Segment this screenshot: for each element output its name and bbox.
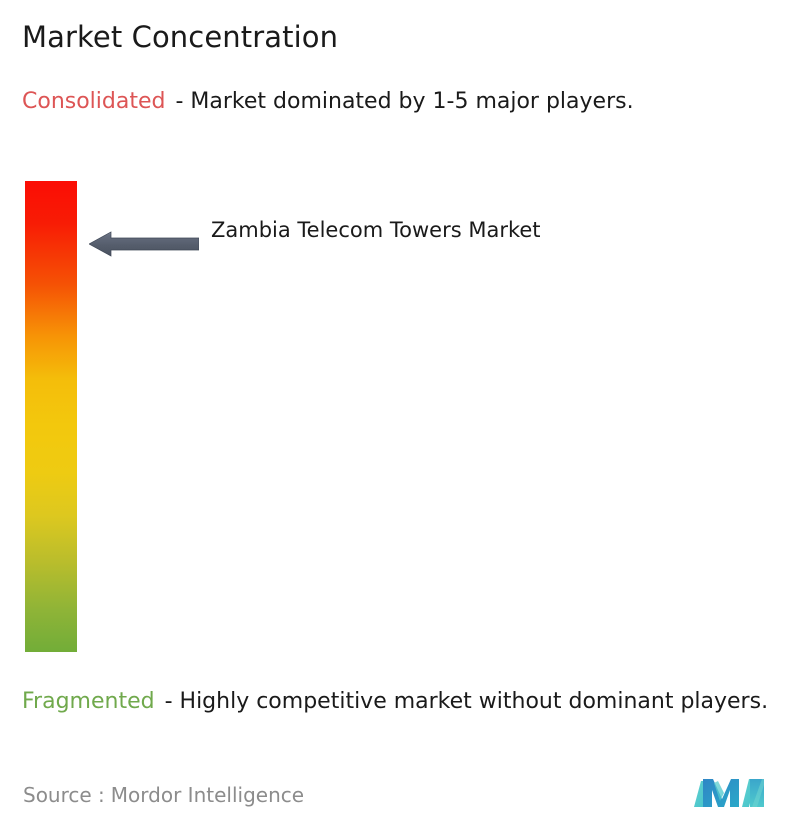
mi-monogram-icon xyxy=(694,773,766,815)
keyword-consolidated: Consolidated xyxy=(22,89,165,114)
left-arrow-icon xyxy=(89,230,199,258)
market-position-arrow xyxy=(89,230,199,258)
source-label: Source : xyxy=(23,783,105,807)
caption-fragmented-text: - Highly competitive market without domi… xyxy=(165,689,768,714)
keyword-fragmented: Fragmented xyxy=(22,689,155,714)
caption-consolidated-text: - Market dominated by 1-5 major players. xyxy=(175,89,633,114)
source-value: Mordor Intelligence xyxy=(111,783,304,807)
concentration-gradient-bar xyxy=(25,181,77,652)
page-title: Market Concentration xyxy=(22,19,338,55)
mordor-intelligence-logo xyxy=(694,773,766,815)
market-concentration-chart: Market Concentration Consolidated- Marke… xyxy=(0,0,796,834)
market-label: Zambia Telecom Towers Market xyxy=(211,215,611,246)
caption-fragmented: Fragmented- Highly competitive market wi… xyxy=(22,686,786,718)
source-attribution: Source :Mordor Intelligence xyxy=(23,781,304,809)
caption-consolidated: Consolidated- Market dominated by 1-5 ma… xyxy=(22,86,778,118)
